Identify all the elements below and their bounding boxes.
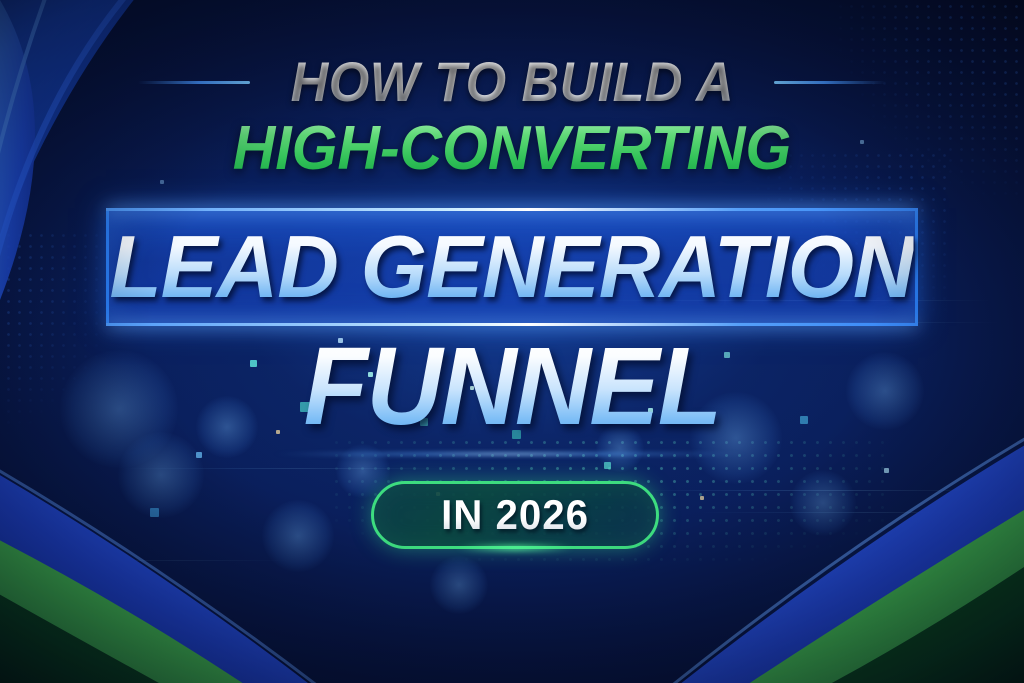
lead-generation-frame: LEAD GENERATION bbox=[106, 208, 918, 326]
year-badge: IN 2026 bbox=[371, 481, 659, 549]
accent-line-right-icon bbox=[774, 81, 886, 84]
accent-line-left-icon bbox=[138, 81, 250, 84]
headline-line-2: HIGH-CONVERTING bbox=[233, 118, 791, 180]
kicker-row: HOW TO BUILD A bbox=[138, 54, 887, 110]
year-badge-label: IN 2026 bbox=[441, 494, 589, 536]
headline-line-3: LEAD GENERATION bbox=[110, 223, 914, 311]
headline-line-1: HOW TO BUILD A bbox=[290, 54, 733, 110]
headline-line-4: FUNNEL bbox=[20, 332, 1003, 442]
promo-banner: HOW TO BUILD A HIGH-CONVERTING LEAD GENE… bbox=[0, 0, 1024, 683]
